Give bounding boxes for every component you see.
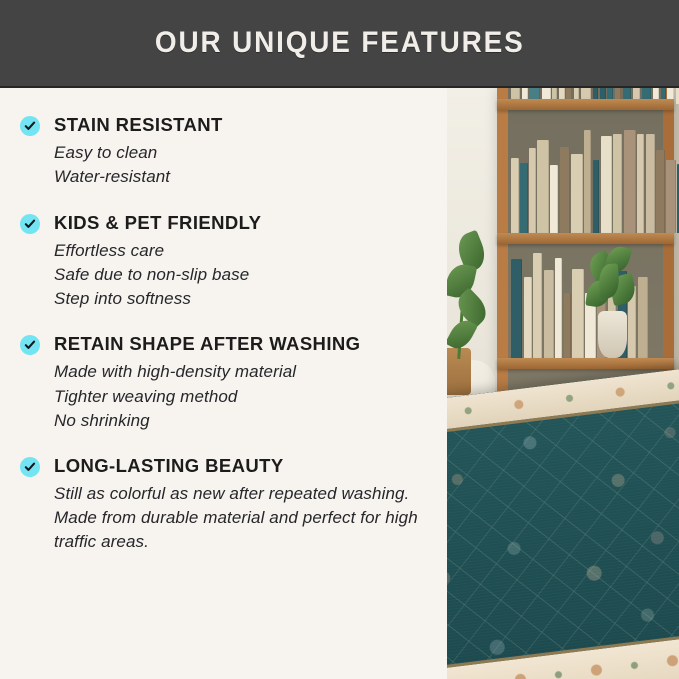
book-spine: [593, 160, 600, 233]
feature-line-list: Easy to clean Water-resistant: [54, 141, 435, 189]
shelf-row-upper: [511, 125, 660, 233]
feature-line: Effortless care: [54, 239, 435, 263]
shelf-plant-icon: [589, 246, 639, 358]
book-spine: [666, 160, 675, 233]
feature-title: LONG-LASTING BEAUTY: [54, 455, 435, 476]
feature-item: STAIN RESISTANT Easy to clean Water-resi…: [20, 114, 435, 190]
book-spine: [613, 134, 622, 233]
book-spine: [584, 130, 591, 233]
check-circle-icon: [20, 335, 40, 355]
feature-line-list: Effortless care Safe due to non-slip bas…: [54, 239, 435, 311]
feature-paragraph: Still as colorful as new after repeated …: [54, 482, 435, 554]
book-spine: [638, 277, 648, 358]
book-spine: [646, 134, 655, 233]
feature-line: Step into softness: [54, 287, 435, 311]
feature-line-list: Made with high-density material Tighter …: [54, 360, 435, 432]
shelf-board: [497, 99, 674, 110]
feature-line: Safe due to non-slip base: [54, 263, 435, 287]
book-spine: [544, 270, 554, 358]
book-spine: [560, 147, 570, 233]
panel-divider: [443, 88, 447, 679]
feature-title: KIDS & PET FRIENDLY: [54, 212, 435, 233]
feature-line: No shrinking: [54, 409, 435, 433]
area-rug: [443, 365, 679, 679]
content-split: STAIN RESISTANT Easy to clean Water-resi…: [0, 88, 679, 679]
feature-item: KIDS & PET FRIENDLY Effortless care Safe…: [20, 212, 435, 312]
plant-pot: [598, 311, 627, 358]
book-spine: [524, 277, 532, 358]
book-spine: [520, 163, 527, 233]
feature-title: STAIN RESISTANT: [54, 114, 435, 135]
header-banner: OUR UNIQUE FEATURES: [0, 0, 679, 88]
book-spine: [601, 136, 612, 233]
infographic-root: OUR UNIQUE FEATURES STAIN RESISTANT Easy…: [0, 0, 679, 679]
book-spine: [572, 269, 583, 358]
photo-scene: [443, 88, 679, 679]
floor-plant-icon: [448, 230, 500, 384]
feature-title: RETAIN SHAPE AFTER WASHING: [54, 333, 435, 354]
feature-item: LONG-LASTING BEAUTY Still as colorful as…: [20, 455, 435, 555]
book-spine: [564, 293, 571, 358]
book-spine: [529, 148, 535, 233]
book-spine: [656, 150, 664, 233]
book-spine: [571, 154, 583, 233]
feature-item: RETAIN SHAPE AFTER WASHING Made with hig…: [20, 333, 435, 433]
book-spine: [511, 158, 519, 233]
page-title: OUR UNIQUE FEATURES: [155, 26, 525, 60]
features-panel: STAIN RESISTANT Easy to clean Water-resi…: [0, 88, 443, 679]
book-spine: [555, 258, 562, 358]
book-spine: [550, 165, 558, 233]
feature-line: Made with high-density material: [54, 360, 435, 384]
check-circle-icon: [20, 457, 40, 477]
shelf-board: [497, 233, 674, 244]
room-photo: [443, 88, 679, 679]
check-circle-icon: [20, 116, 40, 136]
book-spine: [511, 259, 522, 358]
book-spine: [537, 140, 549, 233]
feature-line: Water-resistant: [54, 165, 435, 189]
feature-line: Tighter weaving method: [54, 385, 435, 409]
book-spine: [533, 253, 542, 358]
feature-line: Easy to clean: [54, 141, 435, 165]
check-circle-icon: [20, 214, 40, 234]
book-spine: [624, 130, 636, 233]
shelf-board: [497, 358, 674, 369]
book-spine: [637, 134, 644, 233]
